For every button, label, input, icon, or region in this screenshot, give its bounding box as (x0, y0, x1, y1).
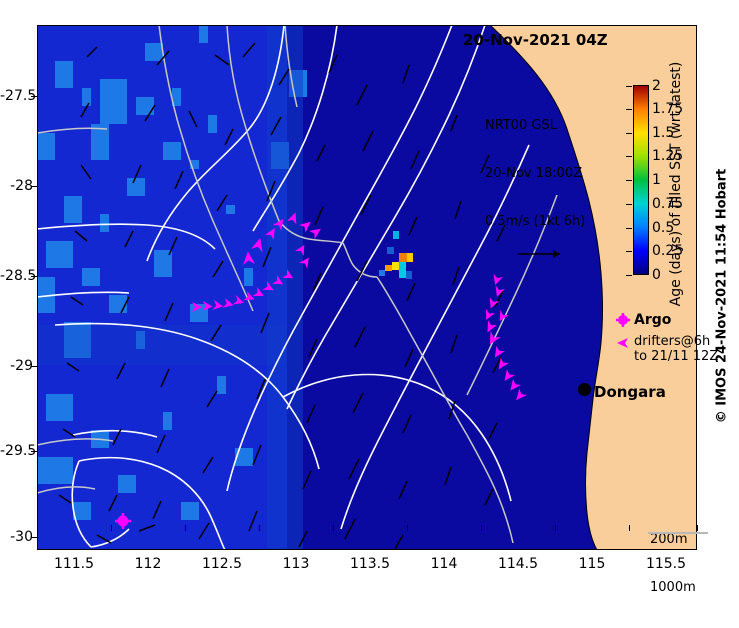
argo-float-markers (37, 25, 697, 550)
legend-label-drifters: drifters@6h to 21/11 12Z (634, 334, 718, 364)
colorbar-tick-label: 2 (652, 78, 661, 94)
figure-canvas: 111.5 112 112.5 113 113.5 114 114.5 115 … (0, 0, 739, 592)
copyright-notice: © IMOS 24-Nov-2021 11:54 Hobart (715, 169, 730, 424)
y-tick-label: -30 (0, 529, 33, 545)
argo-star-icon (612, 312, 634, 332)
x-tick-label: 111.5 (54, 556, 94, 572)
colorbar-tick-label: 1 (652, 172, 661, 188)
legend-drifter-line2: to 21/11 12Z (634, 349, 718, 364)
y-tick-label: -27.5 (0, 88, 33, 104)
bathymetry-depth-labels: 200m 1000m (650, 500, 696, 628)
y-tick-label: -29 (0, 358, 33, 374)
depth-label-underline (648, 532, 708, 534)
x-tick-label: 112.5 (202, 556, 242, 572)
colorbar-tick-label: 0 (652, 267, 661, 283)
velocity-time-label: 20-Nov 18:00Z (485, 166, 585, 182)
legend-drifter-line1: drifters@6h (634, 334, 710, 349)
map-plot-area[interactable] (37, 25, 697, 550)
x-tick-label: 115 (579, 556, 606, 572)
velocity-scale-annotation: NRT00 GSL 20-Nov 18:00Z 0.5m/s (1kt 6h) (485, 86, 585, 283)
y-tick-label: -29.5 (0, 443, 33, 459)
dongara-marker-dot (578, 383, 591, 396)
depth-label-1000m: 1000m (650, 580, 696, 596)
legend-row-drifters: drifters@6h to 21/11 12Z (612, 334, 718, 364)
x-tick-label: 112 (135, 556, 162, 572)
colorbar-title: Age (days) of filled SST (wrt latest) (668, 62, 684, 307)
velocity-reference-arrow-icon (516, 246, 576, 262)
date-stamp: 20-Nov-2021 04Z (463, 31, 608, 49)
x-tick-label: 114.5 (498, 556, 538, 572)
x-tick-label: 113.5 (350, 556, 390, 572)
colorbar (633, 85, 649, 275)
x-tick-label: 113 (283, 556, 310, 572)
y-tick-label: -28 (0, 178, 33, 194)
drifter-arrow-icon (612, 334, 634, 353)
depth-label-200m: 200m (650, 532, 696, 548)
velocity-magnitude-label: 0.5m/s (1kt 6h) (485, 214, 585, 230)
y-tick-label: -28.5 (0, 268, 33, 284)
map-legend: Argo drifters@6h to 21/11 12Z (612, 312, 718, 366)
x-tick-label: 114 (431, 556, 458, 572)
legend-row-argo: Argo (612, 312, 718, 332)
dongara-place-label: Dongara (594, 383, 666, 401)
velocity-source-label: NRT00 GSL (485, 118, 585, 134)
legend-label-argo: Argo (634, 312, 671, 328)
